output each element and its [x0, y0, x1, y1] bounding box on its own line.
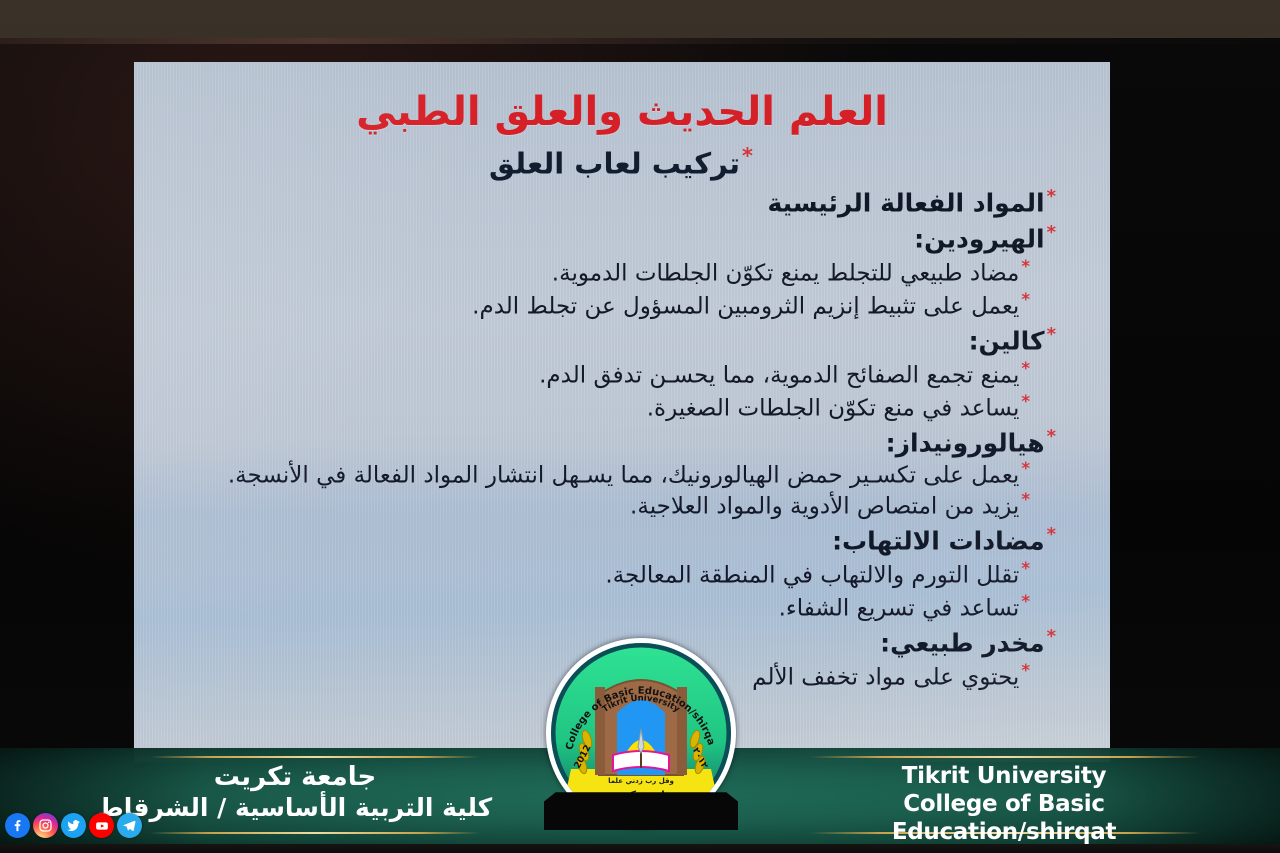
social-links[interactable] — [5, 813, 142, 838]
section-heading: *كالين: — [186, 323, 1058, 358]
section-heading: *المواد الفعالة الرئيسية — [186, 185, 1058, 220]
footer-university-ar: جامعة تكريت — [60, 762, 530, 793]
bullet-asterisk: * — [1021, 661, 1030, 680]
list-item-text: يحتوي على مواد تخفف الألم — [752, 665, 1019, 691]
slide-body: *المواد الفعالة الرئيسية *الهيرودين: *مض… — [186, 185, 1058, 693]
telegram-icon[interactable] — [117, 813, 142, 838]
bullet-asterisk: * — [742, 144, 753, 168]
bezel-sheen — [0, 38, 1280, 44]
section-heading-text: مخدر طبيعي: — [880, 629, 1044, 658]
bullet-asterisk: * — [1021, 359, 1030, 378]
bullet-asterisk: * — [1047, 626, 1056, 647]
logo-motto-text: وقل رب زدني علما — [608, 777, 674, 785]
section-heading-text: هيالورونيداز: — [886, 428, 1045, 457]
bullet-asterisk: * — [1047, 186, 1056, 207]
gold-divider — [150, 832, 480, 834]
slide-subtitle-text: تركيب لعاب العلق — [489, 147, 740, 181]
bullet-asterisk: * — [1047, 524, 1056, 545]
list-item: *يعمل على تكسـير حمض الهيالورونيك، مما ي… — [186, 460, 1032, 489]
list-item-text: يعمل على تكسـير حمض الهيالورونيك، مما يس… — [228, 462, 1019, 488]
screenshot-stage: العلم الحديث والعلق الطبي *تركيب لعاب ال… — [0, 0, 1280, 853]
facebook-icon[interactable] — [5, 813, 30, 838]
bullet-asterisk: * — [1021, 559, 1030, 578]
list-item-text: مضاد طبيعي للتجلط يمنع تكوّن الجلطات الد… — [552, 260, 1020, 286]
twitter-icon[interactable] — [61, 813, 86, 838]
list-item-text: تقلل التورم والالتهاب في المنطقة المعالج… — [605, 563, 1019, 589]
list-item: *مضاد طبيعي للتجلط يمنع تكوّن الجلطات ال… — [186, 256, 1032, 289]
section-heading-text: كالين: — [969, 326, 1045, 355]
list-item-text: يمنع تجمع الصفائح الدموية، مما يحسـن تدف… — [539, 362, 1019, 388]
footer-university-en: Tikrit University — [794, 762, 1214, 790]
list-item: *يزيد من امتصاص الأدوية والمواد العلاجية… — [186, 489, 1032, 522]
instagram-icon[interactable] — [33, 813, 58, 838]
list-item: *تساعد في تسريع الشفاء. — [186, 591, 1032, 624]
footer-college-en: College of Basic Education/shirqat — [794, 790, 1214, 844]
slide-title: العلم الحديث والعلق الطبي — [134, 90, 1110, 134]
list-item-text: يزيد من امتصاص الأدوية والمواد العلاجية. — [630, 494, 1019, 520]
bullet-asterisk: * — [1021, 490, 1030, 509]
list-item-text: يعمل على تثبيط إنزيم الثرومبين المسؤول ع… — [472, 293, 1019, 319]
university-logo: وقل رب زدني علما جامعة تكريت كلية التربي… — [546, 638, 736, 828]
slide-subtitle: *تركيب لعاب العلق — [134, 144, 1110, 181]
youtube-icon[interactable] — [89, 813, 114, 838]
list-item: *تقلل التورم والالتهاب في المنطقة المعال… — [186, 558, 1032, 591]
section-heading: *الهيرودين: — [186, 221, 1058, 256]
section-heading-text: المواد الفعالة الرئيسية — [767, 188, 1044, 217]
footer-english-text: Tikrit University College of Basic Educa… — [794, 762, 1214, 844]
list-item: *يعمل على تثبيط إنزيم الثرومبين المسؤول … — [186, 289, 1032, 322]
bullet-asterisk: * — [1047, 324, 1056, 345]
list-item: *يساعد في منع تكوّن الجلطات الصغيرة. — [186, 391, 1032, 424]
bullet-asterisk: * — [1021, 592, 1030, 611]
list-item-text: يساعد في منع تكوّن الجلطات الصغيرة. — [647, 395, 1020, 421]
section-heading-text: مضادات الالتهاب: — [832, 527, 1045, 556]
section-heading: *هيالورونيداز: — [186, 425, 1058, 460]
bullet-asterisk: * — [1021, 290, 1030, 309]
bottom-dark-strip — [0, 844, 1280, 853]
bullet-asterisk: * — [1021, 257, 1030, 276]
bullet-asterisk: * — [1021, 392, 1030, 411]
section-heading: *مضادات الالتهاب: — [186, 523, 1058, 558]
bullet-asterisk: * — [1047, 222, 1056, 243]
list-item: *يمنع تجمع الصفائح الدموية، مما يحسـن تد… — [186, 358, 1032, 391]
bullet-asterisk: * — [1047, 426, 1056, 447]
section-heading-text: الهيرودين: — [914, 224, 1044, 253]
list-item-text: تساعد في تسريع الشفاء. — [779, 596, 1020, 622]
bullet-asterisk: * — [1021, 459, 1030, 478]
